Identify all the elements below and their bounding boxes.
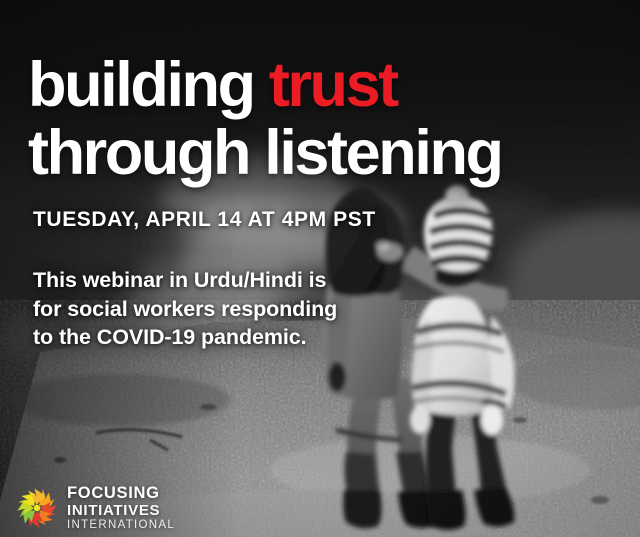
organization-logo: FOCUSING INITIATIVES INTERNATIONAL xyxy=(14,485,175,531)
event-description: This webinar in Urdu/Hindi is for social… xyxy=(33,266,363,352)
poster-content: building trust through listening TUESDAY… xyxy=(0,0,640,537)
headline-line-1: building trust xyxy=(28,56,628,116)
description-line-2: for social workers responding xyxy=(33,295,363,324)
headline-accent-word: trust xyxy=(269,50,397,120)
logo-line-1: FOCUSING xyxy=(67,485,175,502)
webinar-promo-poster: building trust through listening TUESDAY… xyxy=(0,0,640,537)
page-title: building trust through listening xyxy=(28,56,628,184)
starburst-flower-icon xyxy=(14,485,60,531)
event-datetime: TUESDAY, APRIL 14 AT 4PM PST xyxy=(33,208,376,232)
description-line-1: This webinar in Urdu/Hindi is xyxy=(33,266,363,295)
logo-wordmark: FOCUSING INITIATIVES INTERNATIONAL xyxy=(67,485,175,531)
description-line-3: to the COVID-19 pandemic. xyxy=(33,323,363,352)
logo-line-3: INTERNATIONAL xyxy=(67,520,175,532)
headline-plain-text: building xyxy=(28,50,269,120)
logo-line-2: INITIATIVES xyxy=(67,503,175,518)
headline-line-2: through listening xyxy=(28,124,628,184)
